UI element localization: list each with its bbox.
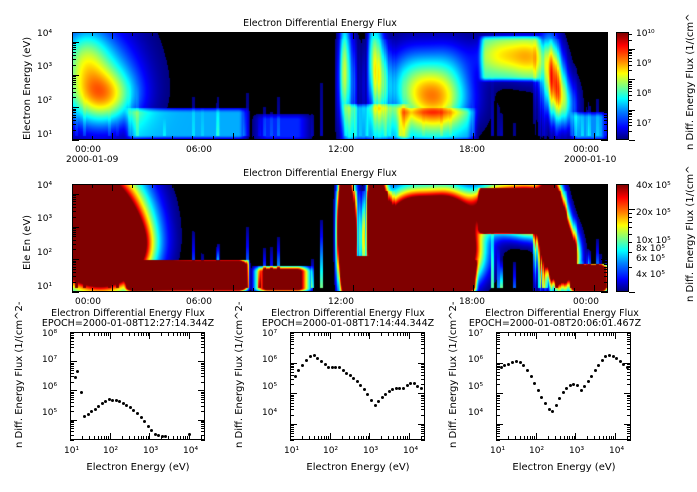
top-xtick-3: 18:00 (459, 145, 485, 155)
mid-cbtick-40: 40x 10⁵ (636, 181, 671, 191)
top-ytick-1: 10¹ (37, 130, 52, 140)
top-ytick-4: 10⁴ (37, 29, 52, 39)
data-point (147, 425, 150, 428)
top-panel-title: Electron Differential Energy Flux (0, 18, 640, 29)
data-point (572, 383, 575, 386)
data-point (136, 412, 139, 415)
data-point (544, 402, 547, 405)
data-point (352, 377, 355, 380)
data-point (125, 404, 128, 407)
data-point (118, 400, 121, 403)
data-point (359, 384, 362, 387)
data-point (83, 415, 86, 418)
top-xtick-0: 00:00 (75, 145, 101, 155)
top-panel-ylabel: Electron Energy (eV) (22, 37, 33, 140)
mid-xtick-3: 18:00 (459, 297, 485, 307)
sp2-ytick-7: 10⁷ (262, 329, 277, 339)
data-point (377, 400, 380, 403)
data-point (111, 399, 114, 402)
sp3-ytick-4: 10⁴ (468, 408, 483, 418)
data-point (80, 391, 83, 394)
data-point (327, 366, 330, 369)
data-point (301, 364, 304, 367)
sp2-xtick-3: 10³ (363, 446, 378, 456)
data-point (583, 385, 586, 388)
data-point (565, 387, 568, 390)
top-cbtick-1: 10⁸ (636, 89, 651, 99)
data-point (104, 400, 107, 403)
mid-ytick-4: 10⁴ (37, 181, 52, 191)
data-point (558, 397, 561, 400)
data-point (608, 354, 611, 357)
data-point (366, 393, 369, 396)
sp1-ytick-5: 10⁵ (42, 408, 57, 418)
data-point (87, 413, 90, 416)
spectrum-1-plot[interactable] (70, 332, 205, 440)
data-point (345, 372, 348, 375)
mid-xtick-1: 06:00 (186, 297, 212, 307)
data-point (384, 393, 387, 396)
sp2-xtick-1: 10¹ (284, 446, 299, 456)
data-point (154, 433, 157, 436)
spectrum-1-xlabel: Electron Energy (eV) (68, 462, 208, 473)
data-point (97, 405, 100, 408)
data-point (522, 364, 525, 367)
sp1-xtick-1: 10¹ (64, 446, 79, 456)
data-point (416, 385, 419, 388)
data-point (604, 355, 607, 358)
data-point (334, 366, 337, 369)
data-point (316, 357, 319, 360)
data-point (313, 354, 316, 357)
mid-cbtick-8: 8x 10⁵ (636, 244, 665, 254)
top-cbtick-0: 10⁷ (636, 119, 651, 129)
data-point (395, 387, 398, 390)
data-point (409, 382, 412, 385)
data-point (374, 404, 377, 407)
middle-spectrogram[interactable] (72, 184, 608, 292)
spectrum-3-xlabel: Electron Energy (eV) (494, 462, 634, 473)
spectrum-1-ylabel: n Diff. Energy Flux (1/(cm^2- (14, 301, 25, 448)
data-point (612, 355, 615, 358)
data-point (363, 388, 366, 391)
top-colorbar-label: n Diff. Energy Flux (1/(cm^ (685, 13, 696, 150)
data-point (342, 369, 345, 372)
data-point (619, 360, 622, 363)
top-colorbar[interactable] (616, 32, 629, 140)
data-point (551, 410, 554, 413)
data-point (576, 384, 579, 387)
data-point (597, 364, 600, 367)
top-spectrogram[interactable] (72, 32, 608, 140)
sp1-ytick-7: 10⁷ (42, 355, 57, 365)
sp3-xtick-3: 10³ (569, 446, 584, 456)
data-point (294, 375, 297, 378)
mid-xtick-2: 12:00 (328, 297, 354, 307)
data-point (420, 387, 423, 390)
top-xtick-4: 00:00 (573, 145, 599, 155)
data-point (324, 363, 327, 366)
data-point (503, 364, 506, 367)
spectrum-3-plot[interactable] (496, 332, 631, 440)
sp3-xtick-1: 10¹ (490, 446, 505, 456)
data-point (515, 360, 518, 363)
data-point (594, 369, 597, 372)
mid-ytick-1: 10¹ (37, 282, 52, 292)
top-xtick-1: 06:00 (186, 145, 212, 155)
sp3-ytick-7: 10⁷ (468, 329, 483, 339)
data-point (94, 408, 97, 411)
data-point (519, 361, 522, 364)
data-point (590, 375, 593, 378)
data-point (101, 402, 104, 405)
top-cbtick-2: 10⁹ (636, 59, 651, 69)
sp3-xtick-4: 10⁴ (609, 446, 624, 456)
data-point (413, 382, 416, 385)
data-point (537, 389, 540, 392)
data-point (132, 409, 135, 412)
sp1-xtick-2: 10² (103, 446, 118, 456)
sp2-ytick-4: 10⁴ (262, 408, 277, 418)
data-point (526, 369, 529, 372)
sp2-ytick-6: 10⁶ (262, 355, 277, 365)
data-point (580, 389, 583, 392)
data-point (320, 360, 323, 363)
mid-ytick-2: 10² (37, 248, 52, 258)
data-point (90, 410, 93, 413)
data-point (74, 376, 77, 379)
top-xtick-2: 12:00 (328, 145, 354, 155)
mid-xtick-0: 00:00 (75, 297, 101, 307)
figure-root: Electron Differential Energy Flux Electr… (0, 0, 697, 492)
sp1-ytick-6: 10⁶ (42, 382, 57, 392)
spectrum-2-ylabel: n Diff. Energy Flux (1/(cm^2- (234, 301, 245, 448)
data-point (540, 396, 543, 399)
spectrum-1-epoch: EPOCH=2000-01-08T12:27:14.344Z (28, 318, 228, 329)
top-xdate-left: 2000-01-09 (66, 155, 118, 165)
data-point (398, 387, 401, 390)
sp2-xtick-4: 10⁴ (403, 446, 418, 456)
data-point (555, 404, 558, 407)
data-point (305, 359, 308, 362)
data-point (569, 384, 572, 387)
sp2-xtick-2: 10² (323, 446, 338, 456)
sp2-ytick-5: 10⁵ (262, 382, 277, 392)
data-point (331, 366, 334, 369)
data-point (157, 434, 160, 437)
data-point (500, 366, 503, 369)
top-ytick-2: 10² (37, 96, 52, 106)
data-point (615, 357, 618, 360)
data-point (530, 375, 533, 378)
data-point (370, 399, 373, 402)
spectrum-2-epoch: EPOCH=2000-01-08T17:14:44.344Z (248, 318, 448, 329)
sp3-xtick-2: 10² (529, 446, 544, 456)
data-point (587, 380, 590, 383)
middle-colorbar[interactable] (616, 184, 629, 292)
data-point (402, 387, 405, 390)
top-ytick-3: 10³ (37, 62, 52, 72)
middle-colorbar-label: n Diff. Energy Flux (1/(cm^ (685, 165, 696, 302)
data-point (601, 359, 604, 362)
data-point (391, 388, 394, 391)
mid-cbtick-4: 4x 10⁵ (636, 270, 665, 280)
mid-cbtick-6: 6x 10⁵ (636, 254, 665, 264)
data-point (338, 366, 341, 369)
sp1-ytick-8: 10⁸ (42, 329, 57, 339)
data-point (349, 374, 352, 377)
data-point (507, 363, 510, 366)
spectrum-2-xlabel: Electron Energy (eV) (288, 462, 428, 473)
data-point (388, 390, 391, 393)
data-point (143, 420, 146, 423)
sp3-ytick-6: 10⁶ (468, 355, 483, 365)
sp1-xtick-4: 10⁴ (183, 446, 198, 456)
spectrum-3-epoch: EPOCH=2000-01-08T20:06:01.467Z (455, 318, 655, 329)
mid-xtick-4: 00:00 (573, 297, 599, 307)
data-point (164, 435, 167, 438)
data-point (150, 429, 153, 432)
data-point (381, 396, 384, 399)
middle-panel-title: Electron Differential Energy Flux (0, 168, 640, 179)
data-point (548, 408, 551, 411)
spectrum-3-ylabel: n Diff. Energy Flux (1/(cm^2- (448, 301, 459, 448)
data-point (356, 380, 359, 383)
mid-ytick-3: 10³ (37, 214, 52, 224)
spectrum-2-plot[interactable] (290, 332, 425, 440)
data-point (76, 370, 79, 373)
data-point (562, 391, 565, 394)
sp1-xtick-3: 10³ (143, 446, 158, 456)
middle-panel-ylabel: Ele En (eV) (22, 215, 33, 270)
mid-cbtick-20: 20x 10⁵ (636, 208, 671, 218)
top-xdate-right: 2000-01-10 (564, 155, 616, 165)
data-point (533, 382, 536, 385)
data-point (511, 361, 514, 364)
sp3-ytick-5: 10⁵ (468, 382, 483, 392)
data-point (309, 355, 312, 358)
data-point (140, 416, 143, 419)
top-cbtick-3: 10¹⁰ (636, 29, 655, 39)
data-point (406, 384, 409, 387)
data-point (297, 369, 300, 372)
